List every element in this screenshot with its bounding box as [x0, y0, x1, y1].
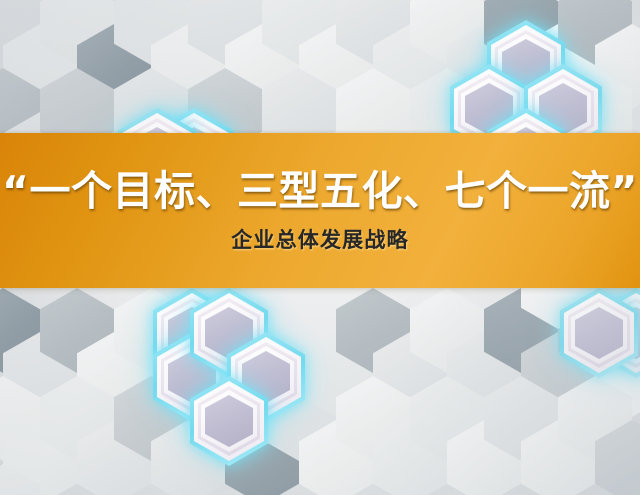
title-slide: “一个目标、三型五化、七个一流” 企业总体发展战略 — [0, 0, 640, 495]
page-title: “一个目标、三型五化、七个一流” — [2, 169, 638, 214]
title-banner: “一个目标、三型五化、七个一流” 企业总体发展战略 — [0, 133, 640, 288]
glowing-hexagon — [190, 376, 268, 466]
page-subtitle: 企业总体发展战略 — [231, 229, 409, 252]
glowing-hexagon — [560, 288, 638, 378]
